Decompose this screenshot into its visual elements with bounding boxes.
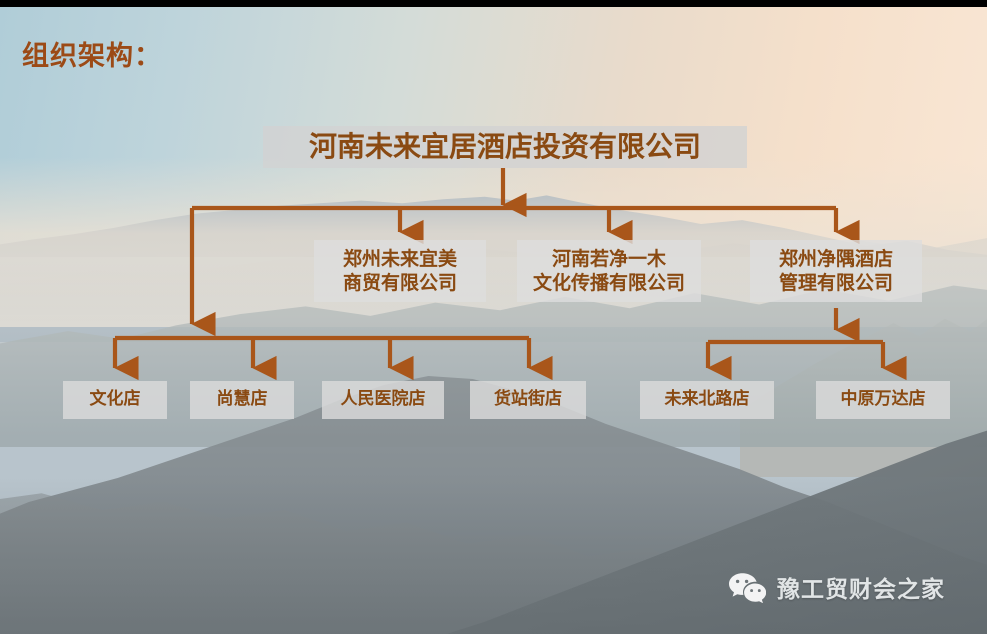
org-node-division-1[interactable]: 郑州未来宜美 商贸有限公司	[314, 240, 486, 302]
org-node-division-2[interactable]: 河南若净一木 文化传播有限公司	[517, 240, 701, 302]
org-node-store-1[interactable]: 文化店	[63, 381, 167, 419]
org-node-store-6[interactable]: 中原万达店	[816, 381, 950, 419]
org-chart-connectors	[0, 0, 987, 634]
watermark-text: 豫工贸财会之家	[777, 570, 945, 604]
org-node-store-3[interactable]: 人民医院店	[322, 381, 444, 419]
watermark: 豫工贸财会之家	[728, 570, 945, 604]
org-node-store-5[interactable]: 未来北路店	[640, 381, 774, 419]
wechat-icon	[728, 572, 766, 603]
org-node-store-2[interactable]: 尚慧店	[190, 381, 294, 419]
slide-canvas: 组织架构：	[0, 0, 987, 634]
org-node-division-3[interactable]: 郑州净隅酒店 管理有限公司	[750, 240, 922, 302]
org-node-root[interactable]: 河南未来宜居酒店投资有限公司	[263, 126, 747, 168]
org-node-store-4[interactable]: 货站街店	[470, 381, 586, 419]
